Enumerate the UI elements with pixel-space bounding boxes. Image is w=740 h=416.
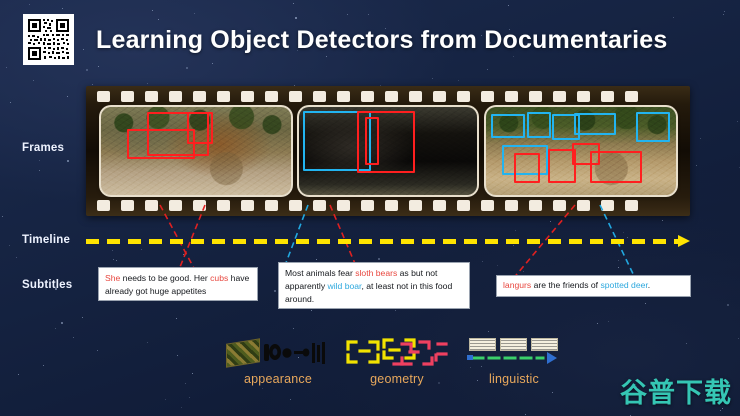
geometry-boxes-icon	[338, 336, 456, 372]
row-label-timeline: Timeline	[22, 234, 70, 246]
filmstrip-perforation	[553, 91, 566, 102]
feature-caption-geometry: geometry	[338, 372, 456, 386]
filmstrip-perforation	[529, 200, 542, 211]
bounding-box-red	[514, 153, 540, 183]
subtitle-3-seg-1: are the friends of	[531, 280, 600, 290]
filmstrip-perforation	[97, 91, 110, 102]
bounding-box-red	[127, 129, 195, 159]
filmstrip-perforation	[385, 91, 398, 102]
bounding-box-red	[365, 117, 379, 165]
filmstrip-perforation	[481, 91, 494, 102]
filmstrip-perforation	[121, 91, 134, 102]
subtitle-box-1: She needs to be good. Her cubs have alre…	[98, 267, 258, 301]
bounding-box-blue	[636, 112, 670, 142]
appearance-image-patch	[226, 338, 260, 367]
bounding-box-blue	[491, 114, 525, 138]
appearance-signal-icon	[262, 338, 336, 368]
filmstrip-perforation	[505, 91, 518, 102]
filmstrip-perforation	[433, 200, 446, 211]
subtitle-2-seg-0: Most animals fear	[285, 268, 355, 278]
subtitle-1-seg-2: cubs	[210, 273, 228, 283]
video-frame-1[interactable]	[101, 107, 291, 195]
filmstrip-perforation	[457, 91, 470, 102]
filmstrip-perforation	[193, 91, 206, 102]
filmstrip-perforation	[577, 200, 590, 211]
timeline-dashed-line	[86, 239, 678, 244]
feature-caption-linguistic: linguistic	[455, 372, 573, 386]
filmstrip-perforation	[577, 91, 590, 102]
subtitle-2-seg-3: wild boar	[328, 281, 362, 291]
filmstrip-perforation	[361, 200, 374, 211]
watermark-text: 谷普下载	[620, 371, 732, 410]
filmstrip-perforation	[313, 200, 326, 211]
feature-caption-appearance: appearance	[218, 372, 338, 386]
feature-appearance: appearance	[218, 336, 338, 386]
filmstrip-perforation	[169, 91, 182, 102]
filmstrip-perforation	[433, 91, 446, 102]
linguistic-text-block	[531, 338, 558, 351]
subtitle-3-seg-0: langurs	[503, 280, 531, 290]
row-label-frames: Frames	[22, 142, 64, 154]
filmstrip-perforation	[457, 200, 470, 211]
row-label-subtitles: Subtitles	[22, 279, 72, 291]
filmstrip-perforation	[121, 200, 134, 211]
filmstrip-perforation	[217, 200, 230, 211]
slide-canvas: Learning Object Detectors from Documenta…	[0, 0, 740, 416]
subtitle-1-seg-0: She	[105, 273, 120, 283]
subtitle-3-seg-2: spotted deer	[600, 280, 647, 290]
filmstrip-perforation	[265, 91, 278, 102]
appearance-patch-icon	[218, 336, 338, 372]
linguistic-text-icon	[455, 336, 573, 372]
video-frame-3[interactable]	[486, 107, 676, 195]
filmstrip-perforation	[337, 200, 350, 211]
bounding-box-blue	[527, 112, 551, 138]
filmstrip-perforation	[241, 200, 254, 211]
linguistic-arrow-icon	[467, 351, 563, 365]
filmstrip-perforations-top	[86, 90, 690, 103]
page-title: Learning Object Detectors from Documenta…	[96, 16, 696, 64]
filmstrip-perforation	[553, 200, 566, 211]
timeline-arrow-icon	[678, 235, 690, 247]
filmstrip-perforation	[193, 200, 206, 211]
filmstrip-perforation	[409, 200, 422, 211]
filmstrip-perforation	[97, 200, 110, 211]
feature-geometry: geometry	[338, 336, 456, 386]
timeline-axis	[86, 239, 690, 244]
subtitle-box-2: Most animals fear sloth bears as but not…	[278, 262, 470, 309]
bounding-box-red	[590, 151, 642, 183]
filmstrip-perforation	[625, 200, 638, 211]
filmstrip-perforation	[313, 91, 326, 102]
linguistic-text-block	[469, 338, 496, 351]
feature-linguistic: linguistic	[455, 336, 573, 386]
bounding-box-blue	[574, 113, 616, 135]
qr-code-icon	[23, 14, 74, 65]
filmstrip-perforation	[265, 200, 278, 211]
subtitle-1-seg-1: needs to be good. Her	[120, 273, 210, 283]
filmstrip-perforation	[241, 91, 254, 102]
filmstrip-perforation	[481, 200, 494, 211]
filmstrip-perforation	[361, 91, 374, 102]
linguistic-text-block	[500, 338, 527, 351]
filmstrip-perforation	[529, 91, 542, 102]
filmstrip-perforation	[169, 200, 182, 211]
video-frame-2[interactable]	[299, 107, 477, 195]
filmstrip-perforation	[409, 91, 422, 102]
filmstrip-perforation	[217, 91, 230, 102]
filmstrip-perforation	[601, 200, 614, 211]
filmstrip-perforation	[145, 200, 158, 211]
filmstrip-perforations-bottom	[86, 199, 690, 212]
bounding-box-red	[187, 112, 213, 144]
filmstrip-perforation	[601, 91, 614, 102]
filmstrip-perforation	[505, 200, 518, 211]
subtitle-box-3: langurs are the friends of spotted deer.	[496, 275, 691, 297]
filmstrip-perforation	[385, 200, 398, 211]
subtitle-2-seg-1: sloth bears	[355, 268, 397, 278]
geometry-dashed-boxes	[344, 336, 450, 370]
filmstrip	[86, 86, 690, 216]
filmstrip-perforation	[145, 91, 158, 102]
filmstrip-perforation	[337, 91, 350, 102]
filmstrip-perforation	[289, 91, 302, 102]
filmstrip-perforation	[625, 91, 638, 102]
subtitle-3-seg-3: .	[648, 280, 650, 290]
filmstrip-perforation	[289, 200, 302, 211]
